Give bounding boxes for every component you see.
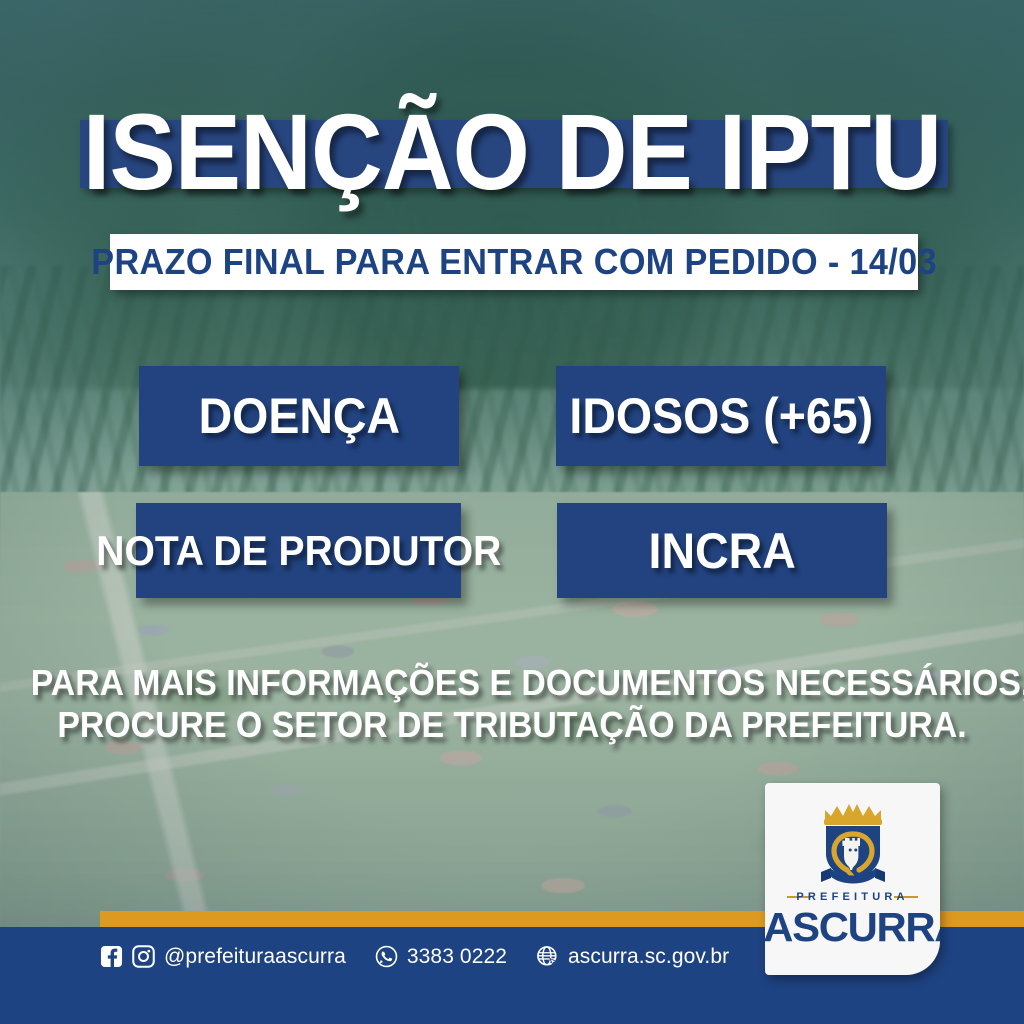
category-box-doenca: DOENÇA <box>139 366 459 466</box>
logo-prefeitura-text: PREFEITURA <box>765 891 940 903</box>
category-label: NOTA DE PRODUTOR <box>96 527 501 575</box>
whatsapp-icon[interactable] <box>375 945 398 968</box>
info-line-1: PARA MAIS INFORMAÇÕES E DOCUMENTOS NECES… <box>31 662 994 704</box>
footer-contact-row: @prefeituraascurra 3383 0222 ascurra.sc.… <box>100 944 729 968</box>
facebook-icon[interactable] <box>100 945 123 968</box>
category-box-nota-de-produtor: NOTA DE PRODUTOR <box>136 503 461 598</box>
social-handle: @prefeituraascurra <box>164 945 346 969</box>
globe-icon[interactable] <box>536 945 559 968</box>
poster-canvas: ISENÇÃO DE IPTU PRAZO FINAL PARA ENTRAR … <box>0 0 1024 1024</box>
category-box-idosos: IDOSOS (+65) <box>556 366 886 466</box>
subtitle-bar: PRAZO FINAL PARA ENTRAR COM PEDIDO - 14/… <box>110 234 918 290</box>
phone-number: 3383 0222 <box>407 945 507 969</box>
prefeitura-logo-card: PREFEITURA ASCURRA <box>765 783 940 975</box>
subtitle-text: PRAZO FINAL PARA ENTRAR COM PEDIDO - 14/… <box>91 241 937 283</box>
category-label: INCRA <box>648 522 795 580</box>
title-block: ISENÇÃO DE IPTU <box>0 92 1024 217</box>
info-line-2: PROCURE O SETOR DE TRIBUTAÇÃO DA PREFEIT… <box>31 704 994 746</box>
website-url: ascurra.sc.gov.br <box>568 945 729 969</box>
page-title: ISENÇÃO DE IPTU <box>41 92 983 212</box>
info-paragraph: PARA MAIS INFORMAÇÕES E DOCUMENTOS NECES… <box>31 662 994 746</box>
category-box-incra: INCRA <box>557 503 887 598</box>
coat-of-arms-crest-icon <box>807 798 899 903</box>
logo-ascurra-text: ASCURRA <box>765 904 940 951</box>
category-label: IDOSOS (+65) <box>569 387 873 445</box>
instagram-icon[interactable] <box>132 945 155 968</box>
category-label: DOENÇA <box>198 387 400 445</box>
